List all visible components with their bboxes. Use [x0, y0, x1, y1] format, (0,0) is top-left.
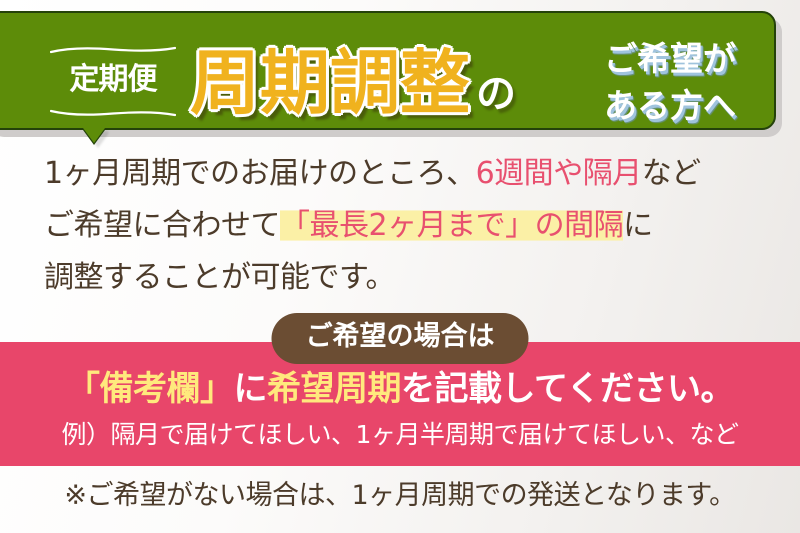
body-line1-highlight-2: 隔月 — [583, 156, 642, 191]
body-line-2: ご希望に合わせて「最長2ヶ月まで」の間隔に — [44, 200, 774, 252]
header-title-main: 周期調整 — [190, 42, 470, 124]
wave-rule-top-icon — [50, 46, 176, 55]
body-line2-highlight: 「最長2ヶ月まで」の間隔 — [280, 208, 623, 243]
body-line1-part3: など — [642, 156, 701, 191]
cta-part-1: に — [234, 369, 268, 409]
header-side-note: ご希望が ある方へ — [604, 35, 736, 129]
status-badge: ご希望の場合は — [272, 313, 529, 364]
body-line2-part1: ご希望に合わせて — [44, 208, 280, 243]
body-paragraph: 1ヶ月周期でのお届けのところ、6週間や隔月など ご希望に合わせて「最長2ヶ月まで… — [44, 148, 774, 304]
body-line-1: 1ヶ月周期でのお届けのところ、6週間や隔月など — [44, 148, 774, 200]
header-side-note-line2: ある方へ — [604, 82, 736, 129]
cta-part-2: を記載してください。 — [401, 369, 734, 409]
body-line1-highlight-1: 6週間 — [476, 156, 554, 191]
speech-bubble-tail-icon — [83, 128, 105, 143]
header-bubble-body: 定期便 周期調整の ご希望が ある方へ — [0, 11, 776, 130]
subscription-tag: 定期便 — [48, 38, 178, 124]
header-title: 周期調整の — [190, 35, 516, 142]
body-line-3: 調整することが可能です。 — [44, 252, 774, 304]
promotional-banner: 定期便 周期調整の ご希望が ある方へ 1ヶ月周期でのお届けのところ、6週間や隔… — [0, 0, 800, 533]
cta-highlight-remarks: 「備考欄」 — [66, 369, 234, 409]
header-title-particle: の — [476, 71, 516, 117]
footnote-text: ※ご希望がない場合は、1ヶ月周期での発送となります。 — [0, 477, 800, 515]
cta-highlight-cycle: 希望周期 — [267, 369, 401, 409]
body-line1-part2: や — [553, 156, 583, 191]
body-line1-part1: 1ヶ月周期でのお届けのところ、 — [44, 156, 476, 191]
cta-band-heading: 「備考欄」に希望周期を記載してください。 — [0, 366, 800, 412]
header-side-note-line1: ご希望が — [604, 35, 736, 82]
cta-band-example: 例）隔月で届けてほしい、1ヶ月半周期で届けてほしい、など — [0, 418, 800, 452]
wave-rule-bottom-icon — [50, 108, 176, 117]
header-speech-bubble: 定期便 周期調整の ご希望が ある方へ — [0, 11, 776, 130]
body-line2-part2: に — [623, 208, 653, 243]
subscription-tag-label: 定期便 — [48, 56, 178, 104]
